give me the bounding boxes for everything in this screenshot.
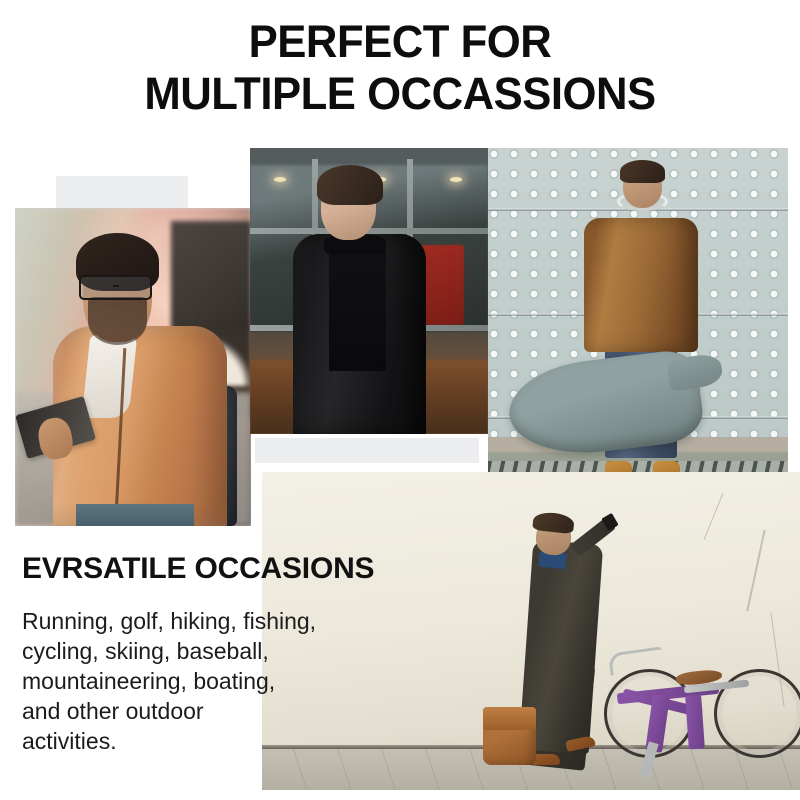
body-line-3: mountaineering, boating, — [22, 666, 392, 696]
photo-right-hair — [620, 160, 665, 183]
photo-left-eyeglasses — [79, 275, 152, 300]
photo-street-backpack — [15, 208, 251, 526]
photo-guitar-case-wall — [488, 148, 788, 500]
body-line-4: and other outdoor — [22, 696, 392, 726]
headline-line-1: PERFECT FOR — [12, 18, 788, 66]
photo-right-leather-jacket — [584, 218, 698, 352]
photo-bottom-leather-bag-flap — [483, 707, 537, 729]
decorative-plate-middle — [255, 438, 479, 463]
photo-left-undershirt — [81, 335, 137, 418]
body-line-1: Running, golf, hiking, fishing, — [22, 606, 392, 636]
body-line-2: cycling, skiing, baseball, — [22, 636, 392, 666]
body-line-5: activities. — [22, 726, 392, 756]
photo-mid-ceiling-light — [274, 177, 286, 182]
decorative-plate-left — [56, 176, 188, 210]
feature-subheading: EVRSATILE OCCASIONS — [22, 552, 374, 586]
photo-storefront-bomber — [250, 148, 488, 434]
poster-canvas: PERFECT FOR MULTIPLE OCCASSIONS — [0, 0, 800, 800]
photo-mid-hair — [317, 165, 384, 205]
headline-line-2: MULTIPLE OCCASSIONS — [12, 70, 788, 118]
page-title: PERFECT FOR MULTIPLE OCCASSIONS — [0, 18, 800, 117]
photo-mid-tshirt — [329, 245, 386, 371]
photo-left-beard — [88, 297, 147, 345]
feature-body-copy: Running, golf, hiking, fishing, cycling,… — [22, 606, 392, 756]
photo-mid-ceiling-light — [450, 177, 462, 182]
photo-left-jeans — [76, 504, 194, 526]
